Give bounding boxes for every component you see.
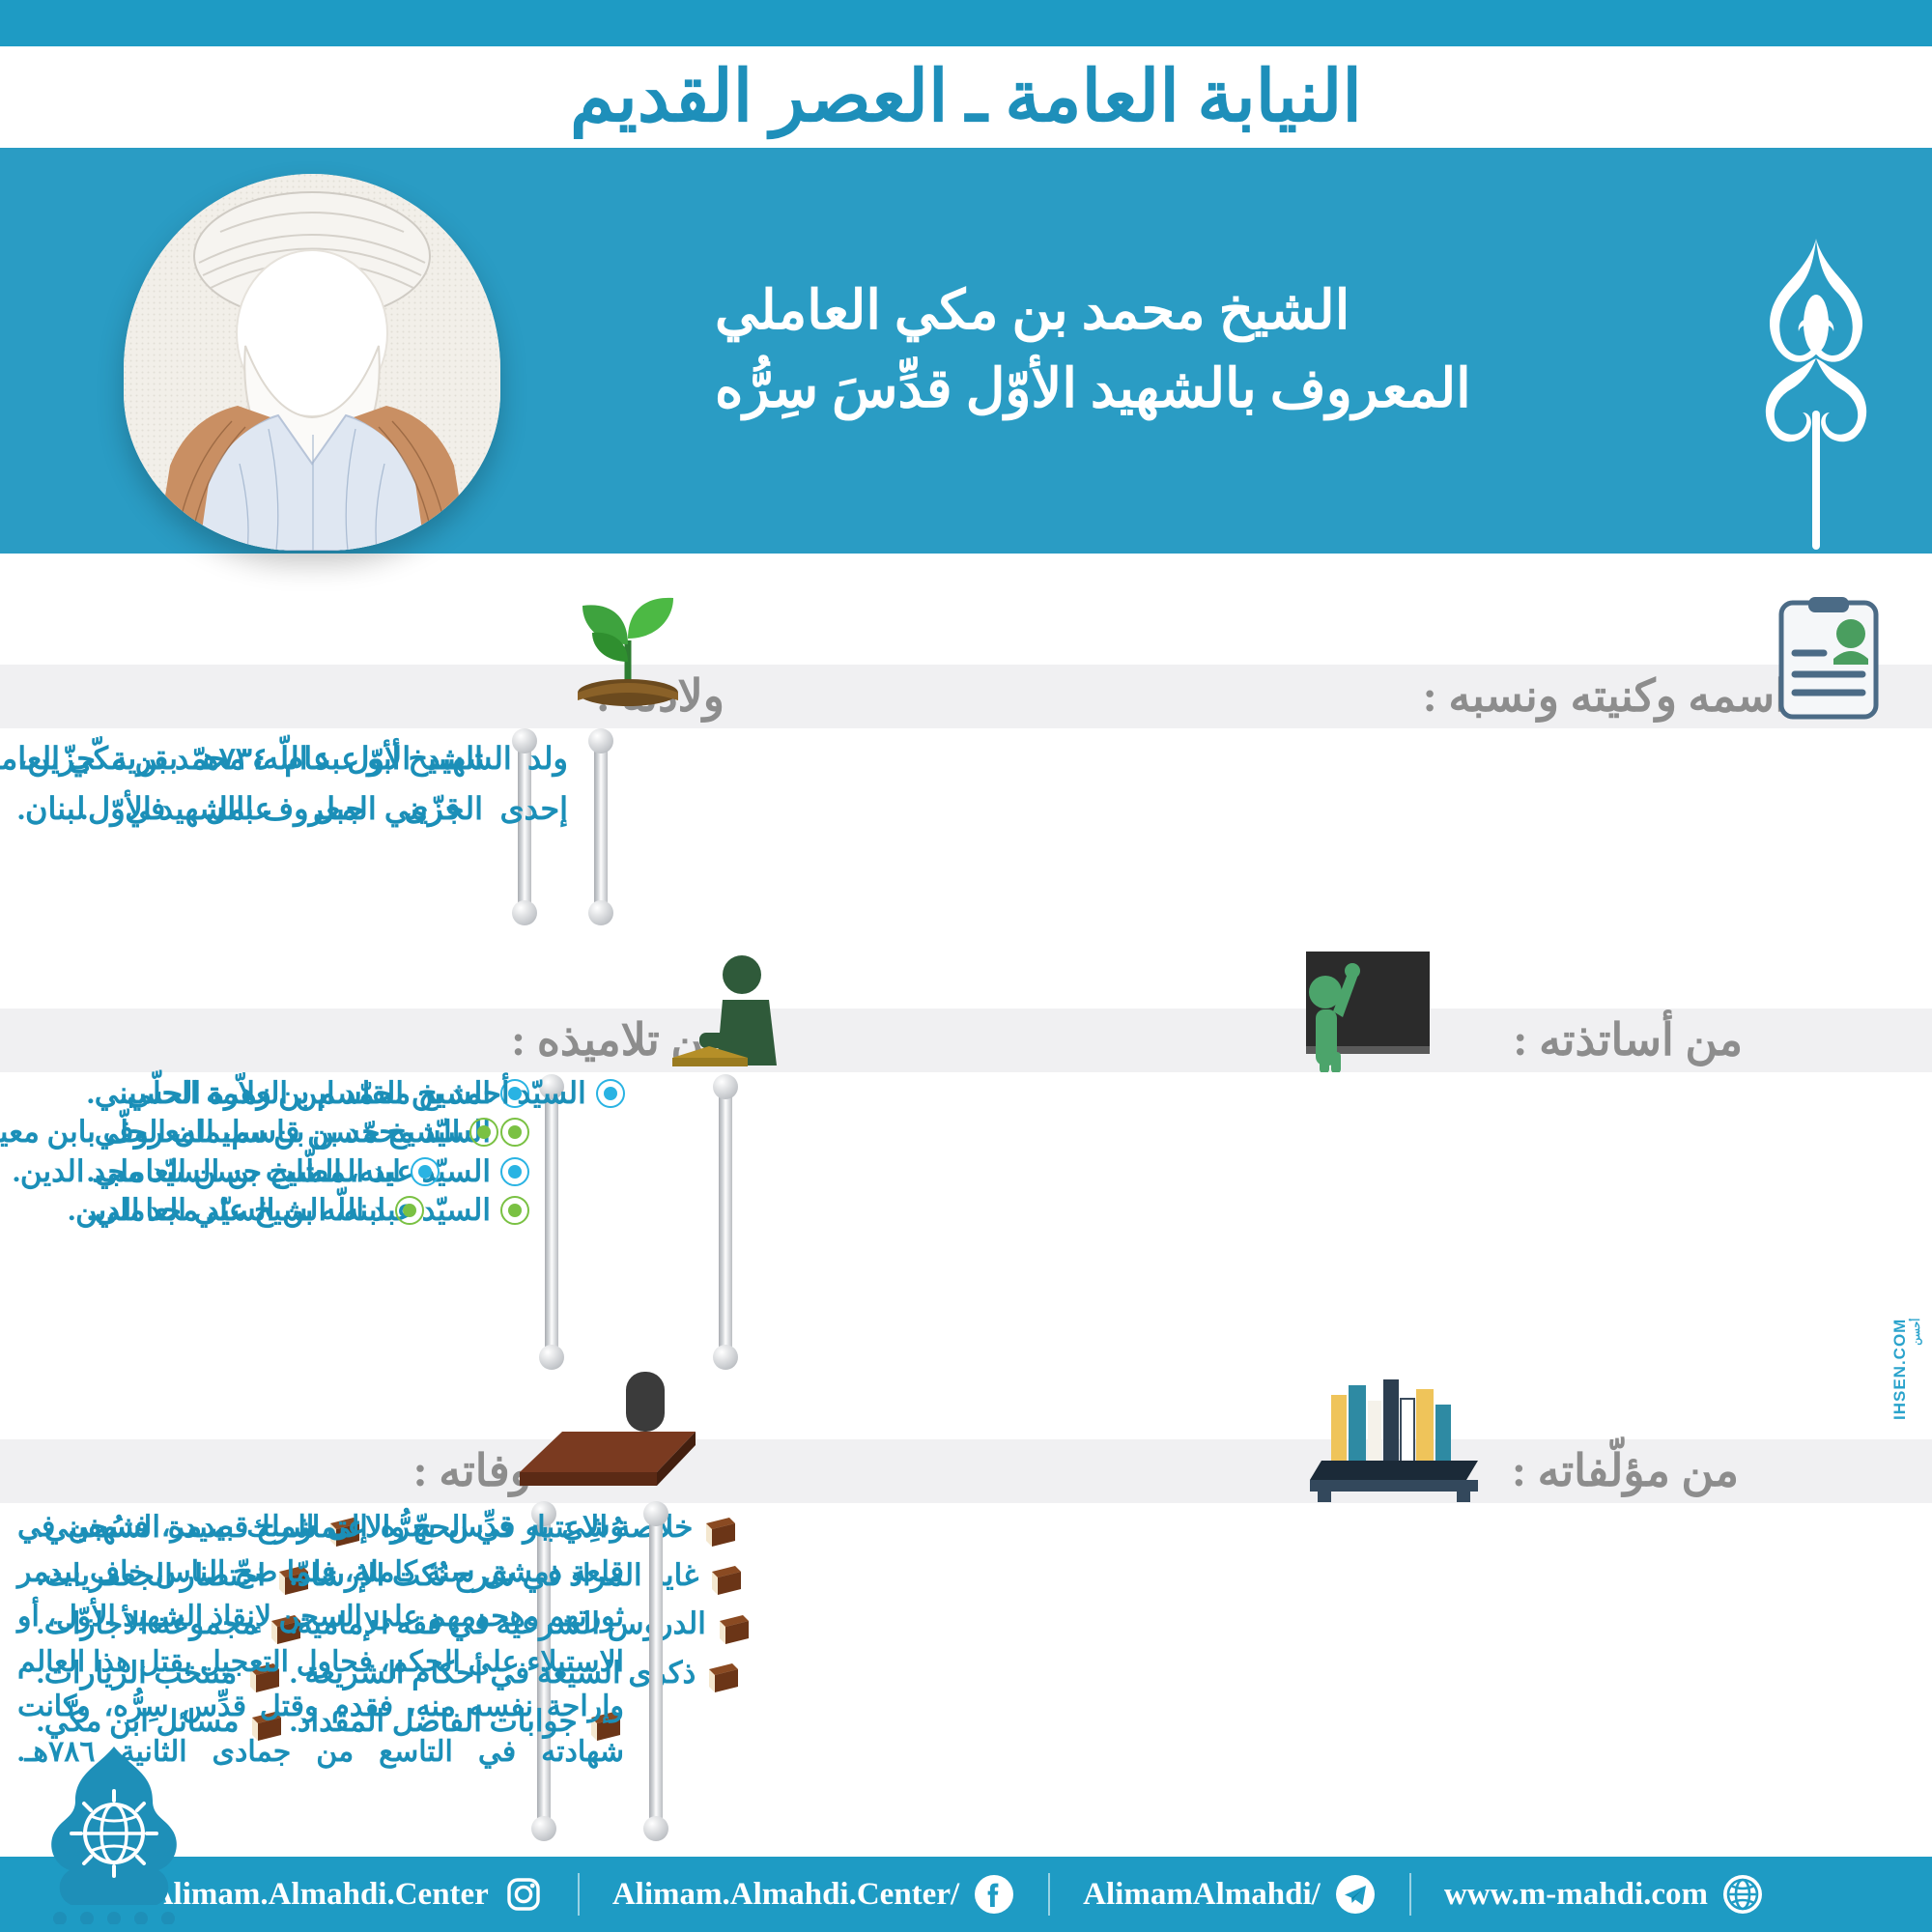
- birth-text: ولد الشهيد الأوّل عام ٧٣٤هـ بقرية جزّين،…: [17, 734, 568, 835]
- student-name: الشيخ حسن بن سليمان الحلّي.: [87, 1113, 460, 1151]
- birth-text-block: ولد الشهيد الأوّل عام ٧٣٤هـ بقرية جزّين،…: [17, 734, 568, 835]
- death-text: وُشِيَ به قدِّس سِرُّه إلى الملك بيدمر، …: [17, 1505, 624, 1775]
- book-icon: [707, 1659, 740, 1688]
- bullet-dot-blue: [596, 1079, 625, 1108]
- footer-instagram-label: Alimam.Almahdi.Center: [151, 1877, 489, 1913]
- watermark-line1: IHSEN.COM: [1890, 1319, 1909, 1420]
- header-name-row-2: المعروف بالشهيد الأوّل قدِّسَ سِرُّه: [715, 351, 1471, 429]
- footer-website-label: www.m-mahdi.com: [1444, 1877, 1708, 1913]
- footer-telegram-label: /AlimamAlmahdi: [1083, 1877, 1321, 1913]
- footer-website[interactable]: www.m-mahdi.com: [1411, 1857, 1797, 1932]
- section-bar-name-lineage: اسمه وكنيته ونسبه :: [686, 665, 1932, 728]
- book-icon: [704, 1513, 737, 1542]
- header-text-block: الشيخ محمد بن مكي العاملي المعروف بالشهي…: [715, 148, 1932, 554]
- decorative-rod-4: [719, 1092, 732, 1352]
- bullet-dot-blue: [411, 1157, 440, 1186]
- section-heading-teachers: من أساتذته :: [1513, 1018, 1743, 1063]
- page-title: النيابة العامة ـ العصر القديم: [570, 62, 1362, 133]
- list-item: ابنه، الشيخ علي العاملي.: [87, 1191, 424, 1230]
- book-icon: [710, 1561, 743, 1590]
- footer-facebook-label: /Alimam.Almahdi.Center: [612, 1877, 959, 1913]
- honorific-text: قدِّسَ سِرُّه: [715, 351, 966, 429]
- footer-divider: [578, 1873, 580, 1916]
- footer-divider: [1409, 1873, 1411, 1916]
- footer-telegram[interactable]: /AlimamAlmahdi: [1050, 1857, 1409, 1932]
- instagram-icon: [502, 1873, 545, 1916]
- bookshelf-icon: [1304, 1372, 1497, 1502]
- grave-icon: [502, 1372, 715, 1488]
- book-icon: [718, 1610, 751, 1639]
- facebook-icon: [973, 1873, 1015, 1916]
- watermark: IHSEN.COM أحسن: [1890, 1319, 1922, 1420]
- student-reading-icon: [649, 952, 813, 1072]
- globe-icon: [1721, 1873, 1764, 1916]
- id-card-icon: [1776, 597, 1882, 723]
- sprout-icon: [555, 584, 700, 710]
- title-band: النيابة العامة ـ العصر القديم: [0, 46, 1932, 148]
- footer-facebook[interactable]: /Alimam.Almahdi.Center: [580, 1857, 1048, 1932]
- students-list: السيّد أحمد بن القاسم بن زهرة الحسيني. ا…: [87, 1074, 690, 1230]
- bullet-dot-green: [469, 1118, 498, 1147]
- scholar-epithet: المعروف بالشهيد الأوّل: [966, 351, 1471, 429]
- watermark-line2: أحسن: [1910, 1319, 1922, 1420]
- almahdi-center-logo: [27, 1741, 201, 1924]
- student-name: ابنه، الشيخ علي العاملي.: [87, 1191, 385, 1230]
- bullet-dot-green: [395, 1196, 424, 1225]
- top-accent-strip: [0, 0, 1932, 46]
- section-heading-name-lineage: اسمه وكنيته ونسبه :: [1423, 674, 1787, 719]
- students-list-block: السيّد أحمد بن القاسم بن زهرة الحسيني. ا…: [87, 1074, 690, 1230]
- footer-bar: www.m-mahdi.com /AlimamAlmahdi /Alimam.A…: [0, 1857, 1932, 1932]
- death-text-block: وُشِيَ به قدِّس سِرُّه إلى الملك بيدمر، …: [17, 1505, 624, 1775]
- telegram-icon: [1334, 1873, 1377, 1916]
- list-item: السيّد أحمد بن القاسم بن زهرة الحسيني.: [87, 1074, 625, 1113]
- decorative-rod-6: [649, 1519, 663, 1824]
- list-item: ابنه، الشيخ حسن العاملي.: [87, 1152, 440, 1191]
- student-name: ابنه، الشيخ حسن العاملي.: [87, 1152, 401, 1191]
- section-heading-works: من مؤلّفاته :: [1512, 1449, 1739, 1493]
- scholar-portrait: [124, 174, 500, 551]
- footer-divider: [1048, 1873, 1050, 1916]
- header-name-row-1: الشيخ محمد بن مكي العاملي: [715, 272, 1350, 351]
- teacher-blackboard-icon: [1265, 952, 1439, 1072]
- student-name: السيّد أحمد بن القاسم بن زهرة الحسيني.: [87, 1074, 586, 1113]
- list-item: الشيخ حسن بن سليمان الحلّي.: [87, 1113, 498, 1151]
- scholar-name: الشيخ محمد بن مكي العاملي: [715, 272, 1350, 351]
- decorative-rod-2: [594, 746, 608, 908]
